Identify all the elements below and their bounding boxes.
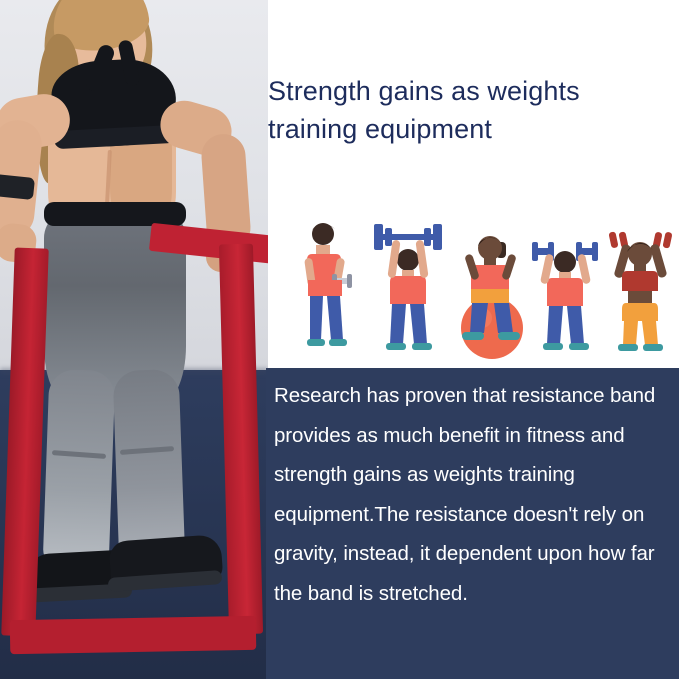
resistance-band-bottom-loop <box>10 616 257 654</box>
man-barbell-overhead-press-icon <box>368 218 448 368</box>
smartwatch-icon <box>0 174 35 200</box>
leg-left <box>43 369 116 571</box>
headline-line-1: Strength gains as weights <box>268 72 668 110</box>
woman-arms-raised-icon <box>600 218 679 368</box>
man-dumbbell-shoulder-press-icon <box>526 218 606 368</box>
woman-with-dumbbell-icon <box>290 218 370 368</box>
description-panel: Research has proven that resistance band… <box>266 368 679 679</box>
product-infographic: Strength gains as weights training equip… <box>0 0 679 679</box>
headline-line-2: training equipment <box>268 110 668 148</box>
leggings-waistband <box>44 202 186 226</box>
woman-on-exercise-ball-icon <box>450 218 530 368</box>
woman-exercising-photo <box>0 0 268 679</box>
exercise-icon-strip <box>268 218 679 368</box>
description-text: Research has proven that resistance band… <box>274 376 674 613</box>
headline: Strength gains as weights training equip… <box>268 72 668 149</box>
